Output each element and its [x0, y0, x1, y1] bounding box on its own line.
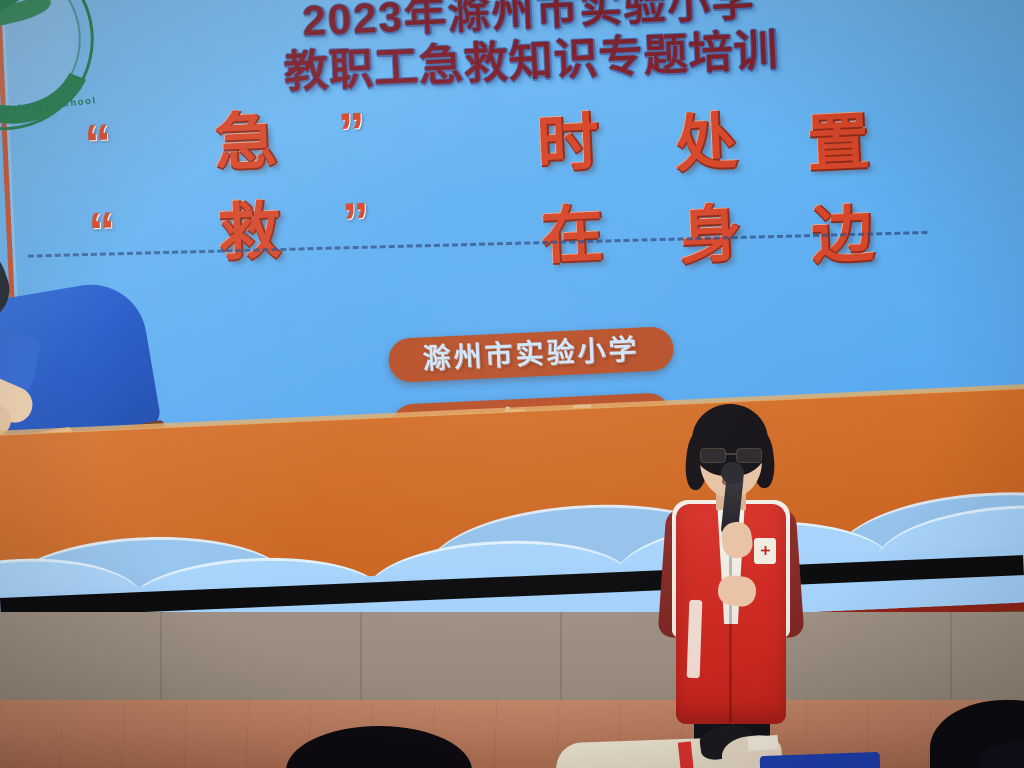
- red-cross-badge-icon: [754, 538, 776, 564]
- wall-seam: [360, 612, 362, 708]
- screen-bezel: 滁州市实验小学 Experimental Primary School 2023…: [0, 0, 1024, 657]
- stage-wall-strip: [0, 612, 1024, 708]
- speaker-hand-lower: [717, 574, 758, 608]
- wall-seam: [950, 612, 952, 708]
- slogan-word-zai: 在: [540, 204, 605, 269]
- quote-close-icon-1: ”: [337, 105, 366, 160]
- wall-seam: [160, 612, 162, 708]
- glasses-lens-right: [736, 448, 762, 463]
- quote-close-icon-2: ”: [341, 195, 370, 250]
- slide-surface: 滁州市实验小学 Experimental Primary School 2023…: [0, 0, 1024, 649]
- photo-scene: 急救 滁州市实验小学 Experimental Primary School 2…: [0, 0, 1024, 768]
- projection-screen: 滁州市实验小学 Experimental Primary School 2023…: [0, 0, 1024, 657]
- speaker-vest-reflective-strip: [687, 600, 703, 678]
- foreground-paper: [748, 735, 779, 751]
- logo-leaf-icon: [0, 0, 46, 20]
- speaker-person: [636, 404, 826, 768]
- quote-open-icon-1: “: [83, 116, 112, 171]
- wall-seam: [560, 612, 562, 708]
- slogan-char-ji: 急: [213, 111, 278, 176]
- glasses-lens-left: [700, 448, 726, 463]
- logo-leaf-icon-2: [0, 0, 53, 27]
- glasses-icon: [700, 448, 762, 461]
- slogan-word-shi: 时: [536, 112, 601, 177]
